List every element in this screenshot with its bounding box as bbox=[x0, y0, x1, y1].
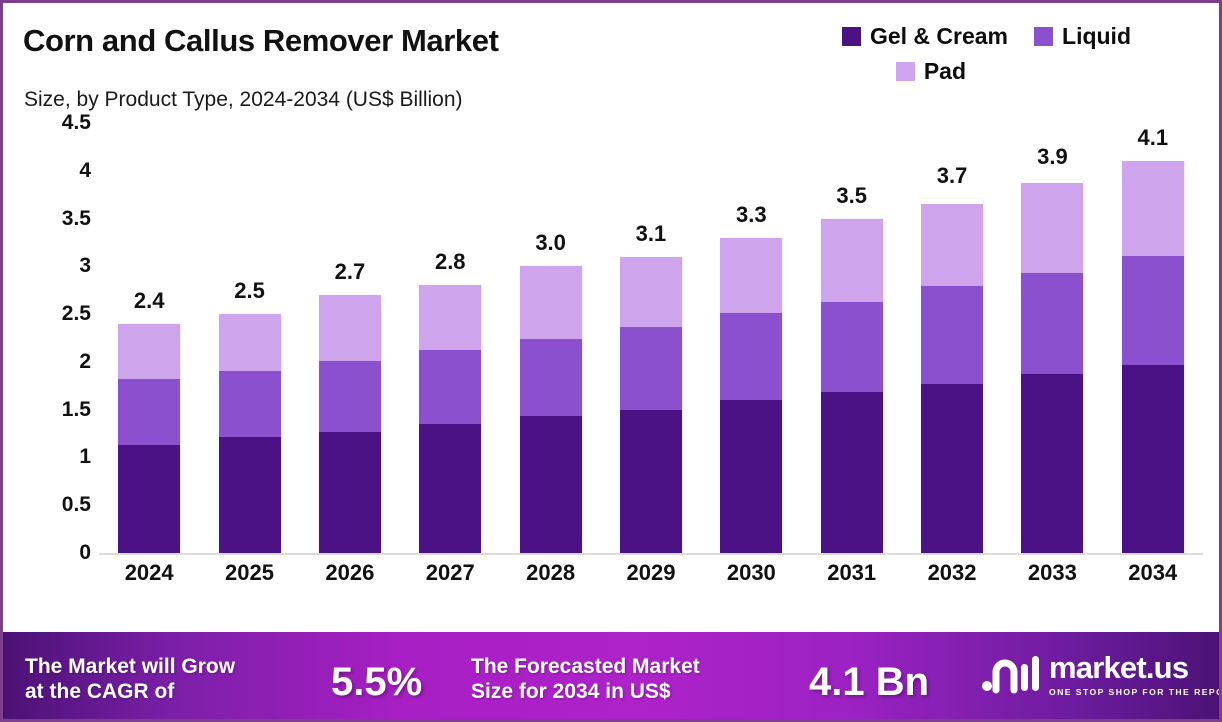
page-title: Corn and Callus Remover Market bbox=[23, 23, 499, 59]
bar-segment-gel-cream[interactable] bbox=[219, 437, 281, 553]
stacked-bar[interactable] bbox=[219, 314, 281, 553]
legend-row-primary: Gel & Cream Liquid bbox=[661, 25, 1131, 48]
legend-swatch-pad bbox=[896, 62, 915, 81]
bar-segment-gel-cream[interactable] bbox=[419, 424, 481, 553]
forecast-size-label-line2: Size for 2034 in US$ bbox=[471, 679, 791, 704]
stacked-bar[interactable] bbox=[620, 257, 682, 553]
market-us-logo[interactable]: market.us ONE STOP SHOP FOR THE REPORTS bbox=[981, 650, 1222, 699]
x-axis-label: 2030 bbox=[701, 560, 801, 586]
x-axis-label: 2025 bbox=[200, 560, 300, 586]
bar-group[interactable]: 2.7 bbox=[300, 123, 400, 553]
bar-total-label: 3.0 bbox=[501, 230, 601, 256]
chart-page: Corn and Callus Remover Market Size, by … bbox=[0, 0, 1222, 722]
bar-segment-pad[interactable] bbox=[520, 266, 582, 339]
bar-segment-liquid[interactable] bbox=[219, 371, 281, 438]
forecast-size-label: The Forecasted Market Size for 2034 in U… bbox=[471, 654, 791, 704]
chart-legend: Gel & Cream Liquid Pad bbox=[661, 25, 1131, 95]
x-axis-label: 2029 bbox=[601, 560, 701, 586]
bar-total-label: 2.4 bbox=[99, 288, 199, 314]
x-axis-label: 2028 bbox=[501, 560, 601, 586]
stacked-bar[interactable] bbox=[1021, 180, 1083, 553]
legend-label-pad: Pad bbox=[924, 60, 966, 83]
logo-tagline: ONE STOP SHOP FOR THE REPORTS bbox=[1049, 687, 1222, 697]
bar-group[interactable]: 3.7 bbox=[902, 123, 1002, 553]
y-axis-tick: 3 bbox=[79, 254, 91, 278]
bar-total-label: 3.3 bbox=[701, 202, 801, 228]
y-axis-tick: 1.5 bbox=[62, 398, 91, 422]
bar-segment-gel-cream[interactable] bbox=[720, 400, 782, 553]
bar-group[interactable]: 2.5 bbox=[200, 123, 300, 553]
bar-segment-pad[interactable] bbox=[419, 285, 481, 350]
bar-segment-liquid[interactable] bbox=[720, 313, 782, 400]
stacked-bar[interactable] bbox=[1122, 161, 1184, 553]
legend-label-gel-cream: Gel & Cream bbox=[870, 25, 1008, 48]
bar-segment-liquid[interactable] bbox=[520, 339, 582, 416]
stacked-bar[interactable] bbox=[419, 285, 481, 553]
bar-segment-gel-cream[interactable] bbox=[1122, 365, 1184, 553]
x-axis-label: 2024 bbox=[99, 560, 199, 586]
y-axis-tick: 3.5 bbox=[62, 207, 91, 231]
y-axis-tick: 2 bbox=[79, 350, 91, 374]
x-axis-label: 2026 bbox=[300, 560, 400, 586]
y-axis-tick: 0 bbox=[79, 541, 91, 565]
bar-segment-liquid[interactable] bbox=[1021, 273, 1083, 374]
bar-segment-liquid[interactable] bbox=[1122, 256, 1184, 365]
bar-segment-gel-cream[interactable] bbox=[118, 445, 180, 553]
bar-segment-liquid[interactable] bbox=[319, 361, 381, 432]
bar-segment-liquid[interactable] bbox=[419, 350, 481, 424]
bar-segment-gel-cream[interactable] bbox=[620, 410, 682, 553]
y-axis-tick: 4.5 bbox=[62, 111, 91, 135]
legend-item-gel-cream[interactable]: Gel & Cream bbox=[842, 25, 1008, 48]
x-axis-label: 2027 bbox=[400, 560, 500, 586]
market-us-logo-icon bbox=[981, 650, 1039, 699]
bar-segment-pad[interactable] bbox=[720, 238, 782, 313]
bar-group[interactable]: 4.1 bbox=[1103, 123, 1203, 553]
logo-wordmark: market.us bbox=[1049, 652, 1222, 683]
legend-item-liquid[interactable]: Liquid bbox=[1034, 25, 1131, 48]
bar-segment-liquid[interactable] bbox=[821, 302, 883, 392]
bar-total-label: 2.5 bbox=[200, 278, 300, 304]
y-axis: 00.511.522.533.544.5 bbox=[25, 123, 91, 618]
bar-segment-pad[interactable] bbox=[319, 295, 381, 361]
bar-segment-gel-cream[interactable] bbox=[821, 392, 883, 553]
bar-segment-pad[interactable] bbox=[118, 324, 180, 379]
chart-header: Corn and Callus Remover Market Size, by … bbox=[3, 3, 1219, 123]
bar-series-container: 2.42.52.72.83.03.13.33.53.73.94.1 bbox=[99, 123, 1203, 553]
legend-swatch-liquid bbox=[1034, 27, 1053, 46]
bar-group[interactable]: 2.8 bbox=[400, 123, 500, 553]
bar-segment-pad[interactable] bbox=[1021, 183, 1083, 273]
bar-segment-gel-cream[interactable] bbox=[520, 416, 582, 553]
bar-segment-liquid[interactable] bbox=[620, 327, 682, 410]
y-axis-tick: 4 bbox=[79, 159, 91, 183]
x-axis-labels: 2024202520262027202820292030203120322033… bbox=[99, 560, 1203, 586]
stacked-bar[interactable] bbox=[319, 295, 381, 553]
y-axis-tick: 1 bbox=[79, 445, 91, 469]
bar-total-label: 2.7 bbox=[300, 259, 400, 285]
bar-total-label: 4.1 bbox=[1103, 125, 1203, 151]
x-axis-label: 2031 bbox=[802, 560, 902, 586]
forecast-size-label-line1: The Forecasted Market bbox=[471, 654, 791, 679]
cagr-label-line1: The Market will Grow bbox=[25, 654, 305, 679]
bar-segment-pad[interactable] bbox=[1122, 161, 1184, 256]
legend-swatch-gel-cream bbox=[842, 27, 861, 46]
bar-group[interactable]: 3.3 bbox=[701, 123, 801, 553]
bar-segment-pad[interactable] bbox=[219, 314, 281, 370]
legend-row-secondary: Pad bbox=[661, 60, 1131, 83]
summary-banner: The Market will Grow at the CAGR of 5.5%… bbox=[3, 632, 1219, 719]
cagr-label: The Market will Grow at the CAGR of bbox=[25, 654, 305, 704]
bar-total-label: 3.7 bbox=[902, 163, 1002, 189]
stacked-bar[interactable] bbox=[118, 324, 180, 553]
bar-segment-pad[interactable] bbox=[821, 219, 883, 302]
x-axis-label: 2033 bbox=[1002, 560, 1102, 586]
bar-group[interactable]: 3.9 bbox=[1002, 123, 1102, 553]
bar-total-label: 3.1 bbox=[601, 221, 701, 247]
bar-total-label: 3.9 bbox=[1002, 144, 1102, 170]
bar-segment-liquid[interactable] bbox=[921, 286, 983, 383]
market-us-logo-text: market.us ONE STOP SHOP FOR THE REPORTS bbox=[1049, 652, 1222, 697]
legend-label-liquid: Liquid bbox=[1062, 25, 1131, 48]
y-axis-tick: 0.5 bbox=[62, 493, 91, 517]
bar-segment-gel-cream[interactable] bbox=[921, 384, 983, 553]
bar-total-label: 3.5 bbox=[802, 183, 902, 209]
bar-group[interactable]: 2.4 bbox=[99, 123, 199, 553]
legend-item-pad[interactable]: Pad bbox=[896, 60, 966, 83]
stacked-bar[interactable] bbox=[821, 219, 883, 553]
y-axis-tick: 2.5 bbox=[62, 302, 91, 326]
plot-area: 00.511.522.533.544.5 2.42.52.72.83.03.13… bbox=[3, 123, 1222, 618]
stacked-bar[interactable] bbox=[720, 238, 782, 553]
x-axis-label: 2034 bbox=[1103, 560, 1203, 586]
x-axis-label: 2032 bbox=[902, 560, 1002, 586]
bar-group[interactable]: 3.0 bbox=[501, 123, 601, 553]
forecast-size-value: 4.1 Bn bbox=[809, 660, 929, 705]
bar-segment-gel-cream[interactable] bbox=[1021, 374, 1083, 553]
bar-segment-pad[interactable] bbox=[620, 257, 682, 327]
bar-segment-liquid[interactable] bbox=[118, 379, 180, 445]
stacked-bar[interactable] bbox=[921, 199, 983, 553]
stacked-bar[interactable] bbox=[520, 266, 582, 553]
cagr-label-line2: at the CAGR of bbox=[25, 679, 305, 704]
bar-total-label: 2.8 bbox=[400, 249, 500, 275]
bar-group[interactable]: 3.1 bbox=[601, 123, 701, 553]
x-axis-line bbox=[99, 553, 1203, 555]
page-subtitle: Size, by Product Type, 2024-2034 (US$ Bi… bbox=[24, 88, 463, 112]
bar-segment-gel-cream[interactable] bbox=[319, 432, 381, 553]
bar-segment-pad[interactable] bbox=[921, 204, 983, 286]
bar-group[interactable]: 3.5 bbox=[802, 123, 902, 553]
cagr-value: 5.5% bbox=[331, 660, 422, 705]
